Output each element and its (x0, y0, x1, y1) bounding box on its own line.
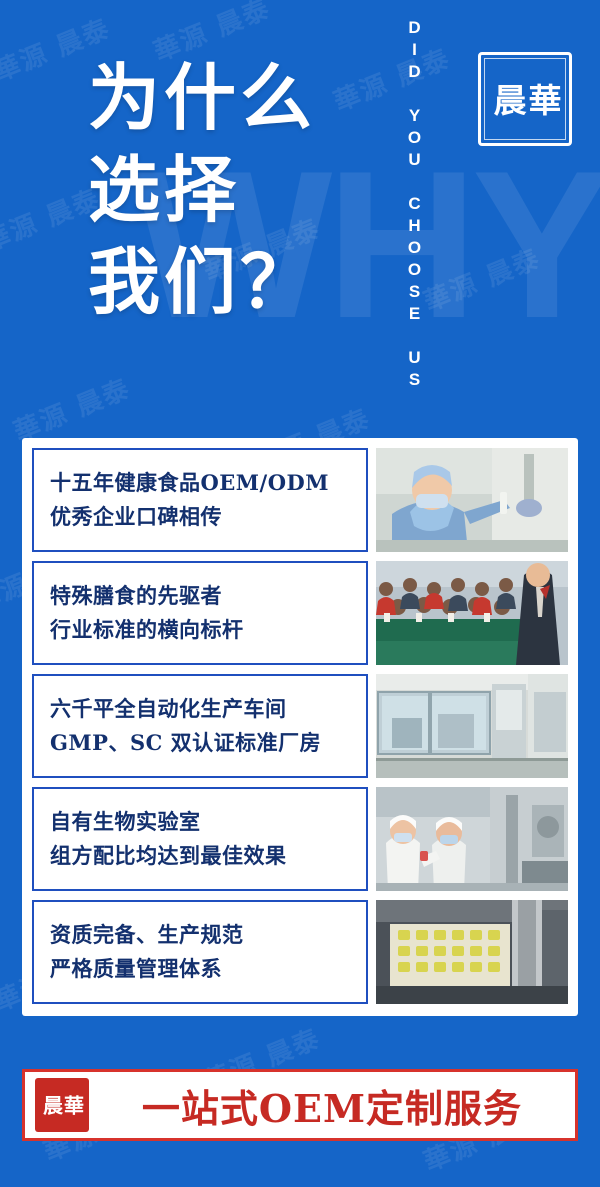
brand-seal-logo: 華 晨 (478, 52, 572, 146)
poster-root: 華源 晨泰 華源 晨泰 華源 晨泰 華源 晨泰 華源 晨泰 華源 晨泰 華源 晨… (0, 0, 600, 1187)
reason-text-box: 十五年健康食品OEM/ODM 优秀企业口碑相传 (32, 448, 368, 552)
brand-seal-inner: 華 晨 (484, 58, 566, 140)
reason-text-box: 自有生物实验室 组方配比均达到最佳效果 (32, 787, 368, 891)
reason-line-2: 严格质量管理体系 (50, 952, 350, 986)
reason-line-1: 资质完备、生产规范 (50, 918, 350, 952)
list-item: 自有生物实验室 组方配比均达到最佳效果 (32, 787, 568, 891)
reason-line-2: GMP、SC 双认证标准厂房 (50, 726, 350, 760)
reason-text-box: 特殊膳食的先驱者 行业标准的横向标杆 (32, 561, 368, 665)
photo-conference-audience (376, 561, 568, 665)
footer-banner: 華 晨 一站式OEM定制服务 (22, 1069, 578, 1141)
photo-tablet-packing-machine (376, 900, 568, 1004)
vertical-english-label: DID YOU CHOOSE US (404, 18, 424, 398)
photo-clean-room-corridor (376, 674, 568, 778)
photo-lab-technician-blue-gown (376, 448, 568, 552)
seal-char-1: 華 (526, 83, 559, 116)
footer-seal-char-1: 華 (63, 1095, 83, 1115)
reason-line-1: 十五年健康食品OEM/ODM (50, 466, 350, 500)
reasons-card: 十五年健康食品OEM/ODM 优秀企业口碑相传 (22, 438, 578, 1016)
reason-text-box: 资质完备、生产规范 严格质量管理体系 (32, 900, 368, 1004)
reason-text-box: 六千平全自动化生产车间 GMP、SC 双认证标准厂房 (32, 674, 368, 778)
reason-line-2: 行业标准的横向标杆 (50, 613, 350, 647)
reason-line-2: 组方配比均达到最佳效果 (50, 839, 350, 873)
reason-line-1: 六千平全自动化生产车间 (50, 692, 350, 726)
footer-seal-char-2: 晨 (42, 1095, 62, 1115)
headline-line-3: 我们？ (88, 236, 316, 328)
page-title: 为什么 选择 我们？ (88, 52, 316, 328)
headline-line-2: 选择 (88, 144, 316, 236)
reason-line-1: 特殊膳食的先驱者 (50, 579, 350, 613)
footer-slogan: 一站式OEM定制服务 (99, 1078, 565, 1133)
reason-line-2: 优秀企业口碑相传 (50, 500, 350, 534)
poster-header: 为什么 选择 我们？ DID YOU CHOOSE US 華 晨 (0, 0, 600, 430)
list-item: 特殊膳食的先驱者 行业标准的横向标杆 (32, 561, 568, 665)
seal-char-2: 晨 (491, 83, 524, 116)
photo-two-workers-white-suits (376, 787, 568, 891)
footer-seal-logo: 華 晨 (35, 1078, 89, 1132)
reason-line-1: 自有生物实验室 (50, 805, 350, 839)
list-item: 十五年健康食品OEM/ODM 优秀企业口碑相传 (32, 448, 568, 552)
list-item: 资质完备、生产规范 严格质量管理体系 (32, 900, 568, 1004)
headline-line-1: 为什么 (88, 52, 316, 144)
list-item: 六千平全自动化生产车间 GMP、SC 双认证标准厂房 (32, 674, 568, 778)
